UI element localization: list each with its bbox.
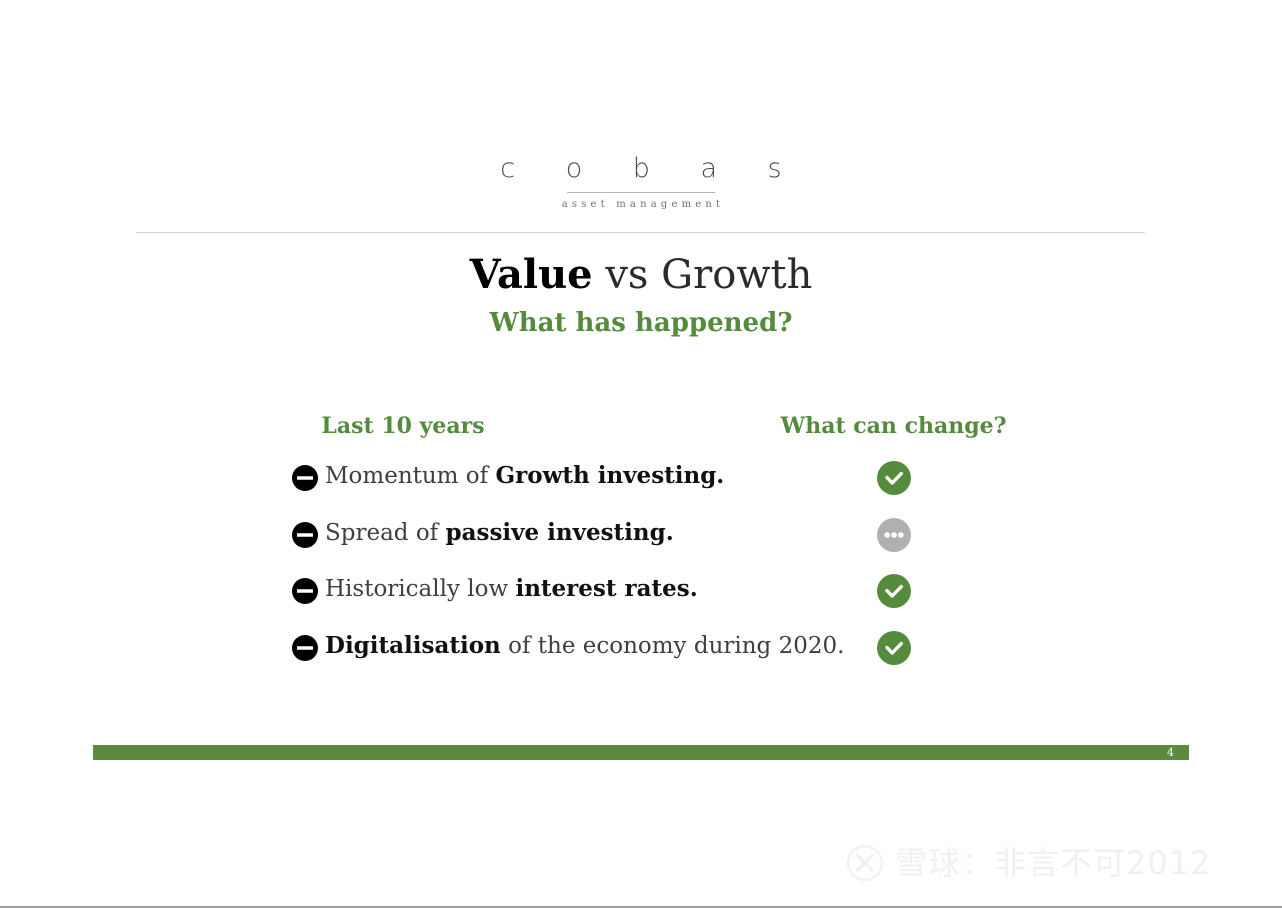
bullet-row-text: Spread of passive investing. bbox=[325, 515, 674, 551]
logo-divider bbox=[567, 192, 715, 193]
check-circle-icon bbox=[877, 574, 911, 608]
title-rest: vs Growth bbox=[593, 252, 813, 298]
bullet-row-list: Momentum of Growth investing.Spread of p… bbox=[0, 458, 1282, 684]
logo-wordmark: c o b a s bbox=[0, 152, 1282, 186]
minus-circle-icon bbox=[292, 465, 321, 494]
bullet-text-bold: interest rates. bbox=[515, 575, 697, 602]
watermark-text: 雪球：非言不可2012 bbox=[895, 843, 1211, 883]
bullet-row-text: Digitalisation of the economy during 202… bbox=[325, 628, 844, 664]
bullet-row: Momentum of Growth investing. bbox=[0, 458, 1282, 515]
bullet-text-bold: Digitalisation bbox=[325, 632, 501, 659]
column-header-left: Last 10 years bbox=[250, 411, 556, 441]
logo-tagline: asset management bbox=[0, 198, 1282, 212]
minus-circle-icon bbox=[292, 635, 321, 664]
minus-circle-icon bbox=[292, 522, 321, 551]
page-subtitle: What has happened? bbox=[0, 306, 1282, 340]
page-title: Value vs Growth bbox=[0, 250, 1282, 300]
column-header-right: What can change? bbox=[740, 411, 1047, 441]
title-emphasis: Value bbox=[470, 251, 593, 298]
footer-bar: 4 bbox=[93, 745, 1189, 760]
bullet-text-bold: passive investing. bbox=[446, 519, 674, 546]
ellipsis-circle-icon bbox=[877, 518, 911, 552]
check-circle-icon bbox=[877, 461, 911, 495]
check-circle-icon bbox=[877, 631, 911, 665]
slide-canvas: c o b a s asset management Value vs Grow… bbox=[0, 0, 1282, 908]
header-divider bbox=[136, 232, 1145, 233]
bullet-row-text: Momentum of Growth investing. bbox=[325, 458, 724, 494]
bullet-row-text: Historically low interest rates. bbox=[325, 571, 698, 607]
watermark: 雪球：非言不可2012 bbox=[845, 843, 1211, 883]
bullet-text-tail: of the economy during 2020. bbox=[501, 633, 845, 659]
brand-logo: c o b a s asset management bbox=[0, 152, 1282, 212]
bullet-text-plain: Momentum of bbox=[325, 463, 495, 489]
bullet-row: Digitalisation of the economy during 202… bbox=[0, 628, 1282, 685]
minus-circle-icon bbox=[292, 578, 321, 607]
bullet-text-plain: Historically low bbox=[325, 576, 515, 602]
bullet-row: Historically low interest rates. bbox=[0, 571, 1282, 628]
bullet-row: Spread of passive investing. bbox=[0, 515, 1282, 572]
xueqiu-logo-icon bbox=[845, 843, 885, 883]
bullet-text-plain: Spread of bbox=[325, 520, 446, 546]
page-number: 4 bbox=[1167, 745, 1174, 760]
bullet-text-bold: Growth investing. bbox=[495, 462, 724, 489]
